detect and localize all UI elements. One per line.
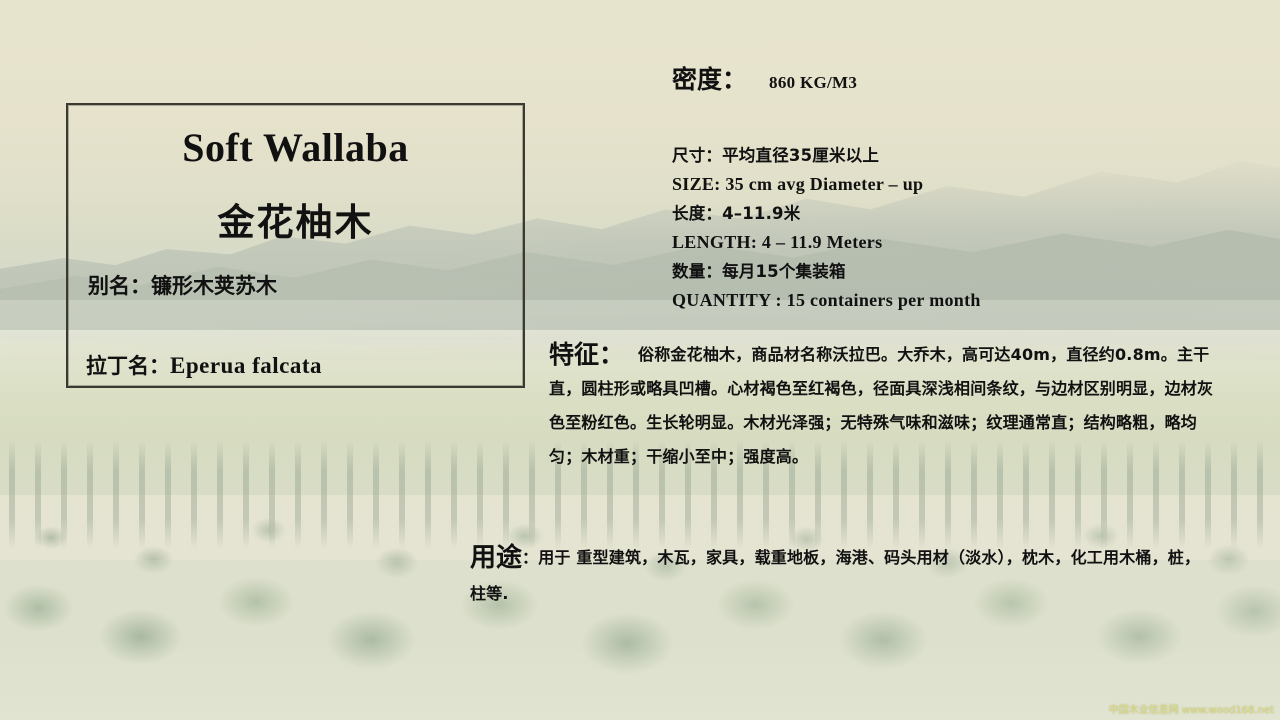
spec-row: QUANTITY : 15 containers per month: [672, 286, 981, 315]
alias-row: 别名：镰形木荚苏木: [88, 270, 277, 300]
specifications-list: 尺寸：平均直径35厘米以上SIZE: 35 cm avg Diameter – …: [672, 141, 981, 315]
latin-label: 拉丁名：: [86, 354, 170, 378]
spec-row: 长度：4–11.9米: [672, 199, 981, 228]
spec-row: LENGTH: 4 – 11.9 Meters: [672, 228, 981, 257]
density-value: 860 KG/M3: [769, 73, 857, 92]
product-title-english: Soft Wallaba: [66, 124, 525, 171]
uses-body: ：用于 重型建筑，木瓦，家具，载重地板，海港、码头用材（淡水），枕木，化工用木桶…: [470, 540, 1215, 612]
spec-row: 尺寸：平均直径35厘米以上: [672, 141, 981, 170]
density-label: 密度：: [672, 65, 747, 94]
characteristics-section: 特征： 俗称金花柚木，商品材名称沃拉巴。大乔木，高可达40m，直径约0.8m。主…: [549, 338, 1229, 474]
latin-value: Eperua falcata: [170, 353, 322, 378]
uses-heading: 用途: [470, 540, 522, 576]
spec-row: 数量：每月15个集装箱: [672, 257, 981, 286]
density-row: 密度：860 KG/M3: [672, 60, 857, 96]
site-watermark: 中国木业信息网 www.wood168.net: [1109, 701, 1274, 716]
latin-name-row: 拉丁名：Eperua falcata: [86, 350, 322, 380]
characteristics-heading: 特征：: [549, 338, 624, 372]
spec-row: SIZE: 35 cm avg Diameter – up: [672, 170, 981, 199]
alias-label: 别名：: [88, 274, 151, 298]
alias-value: 镰形木荚苏木: [151, 274, 277, 298]
characteristics-body: 俗称金花柚木，商品材名称沃拉巴。大乔木，高可达40m，直径约0.8m。主干直，圆…: [549, 338, 1229, 474]
uses-section: 用途 ：用于 重型建筑，木瓦，家具，载重地板，海港、码头用材（淡水），枕木，化工…: [470, 540, 1215, 612]
product-title-chinese: 金花柚木: [66, 192, 525, 246]
